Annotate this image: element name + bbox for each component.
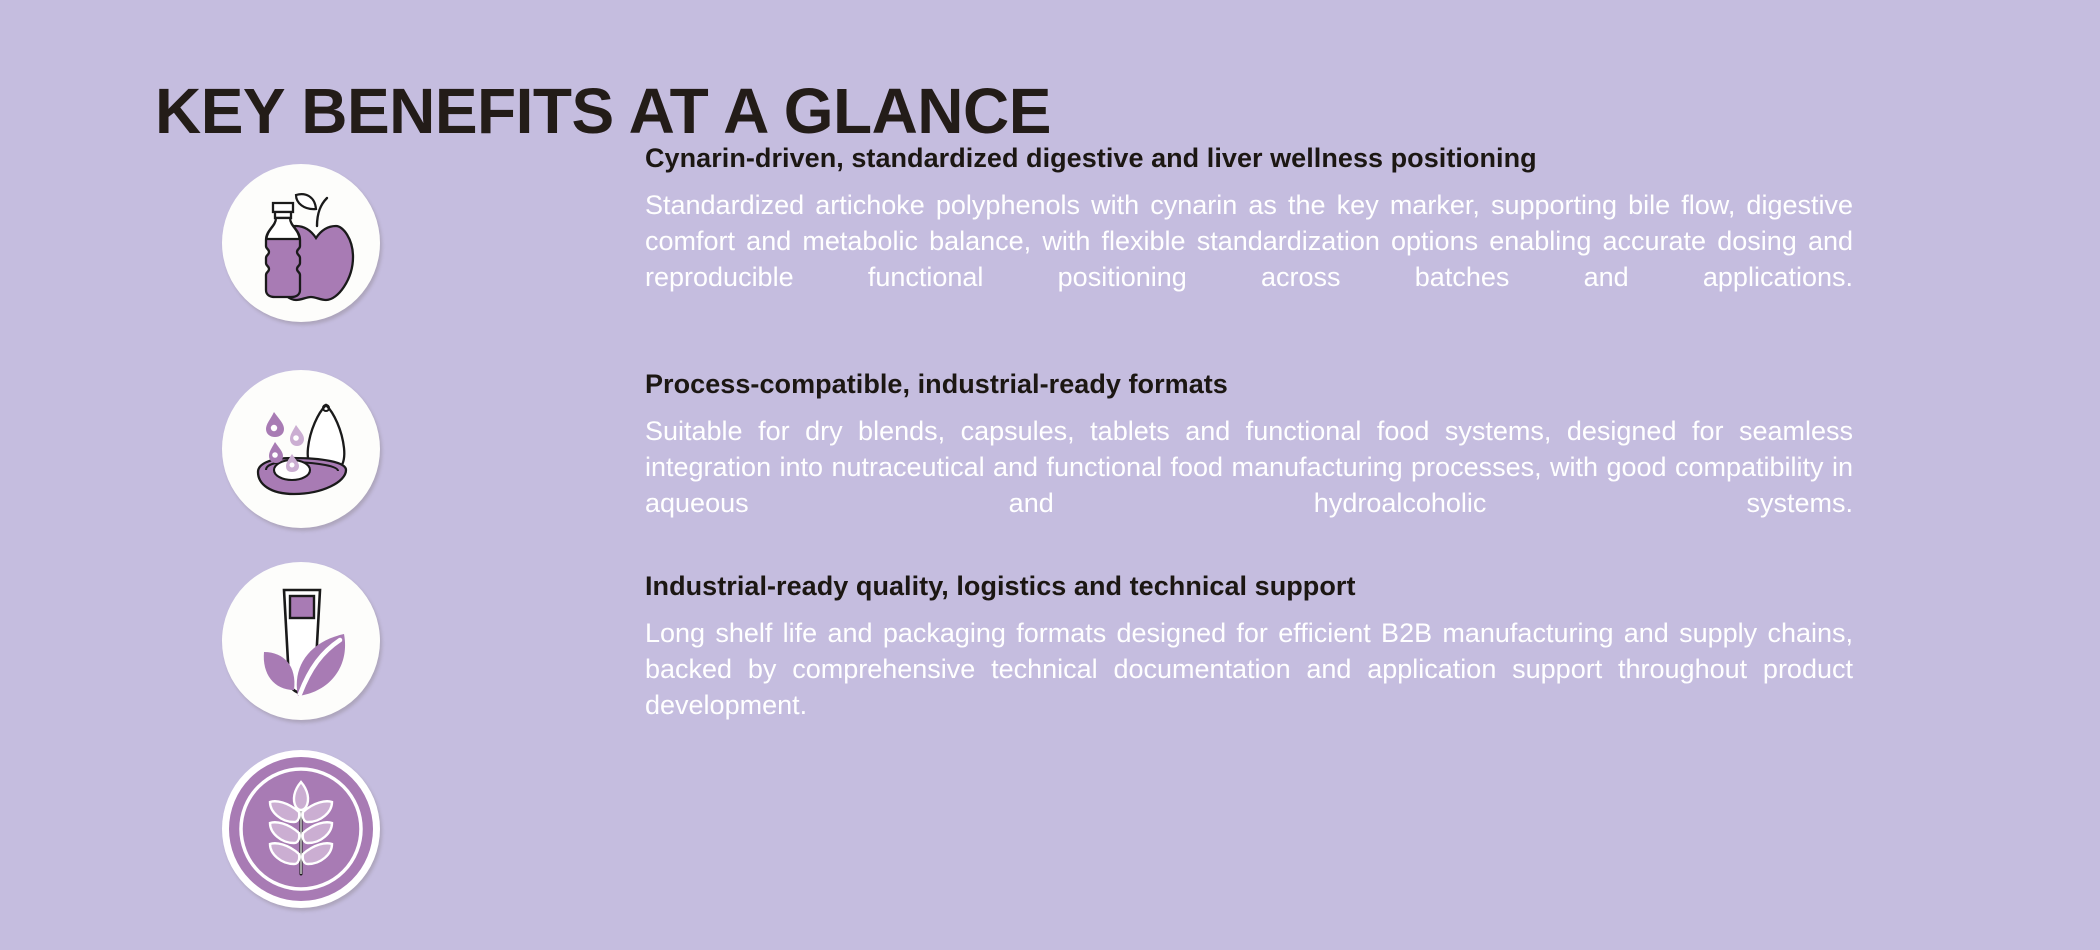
tube-leaves-icon (222, 562, 380, 720)
benefit-body: Suitable for dry blends, capsules, table… (645, 414, 1853, 557)
benefit-block: Cynarin-driven, standardized digestive a… (645, 142, 1853, 331)
benefit-block: Process-compatible, industrial-ready for… (645, 368, 1853, 557)
icon-column (222, 142, 402, 932)
key-benefits-panel: KEY BENEFITS AT A GLANCE (0, 0, 2100, 950)
benefits-content: Cynarin-driven, standardized digestive a… (0, 142, 2100, 932)
benefit-block: Industrial-ready quality, logistics and … (645, 570, 1853, 759)
benefit-heading: Process-compatible, industrial-ready for… (645, 368, 1853, 400)
benefit-heading: Industrial-ready quality, logistics and … (645, 570, 1853, 602)
benefit-heading: Cynarin-driven, standardized digestive a… (645, 142, 1853, 174)
page-title: KEY BENEFITS AT A GLANCE (155, 79, 1051, 143)
benefit-body: Standardized artichoke polyphenols with … (645, 188, 1853, 331)
wheat-seal-icon (222, 750, 380, 908)
mortar-droplets-icon (222, 370, 380, 528)
benefit-body: Long shelf life and packaging formats de… (645, 616, 1853, 759)
bottle-apple-icon (222, 164, 380, 322)
